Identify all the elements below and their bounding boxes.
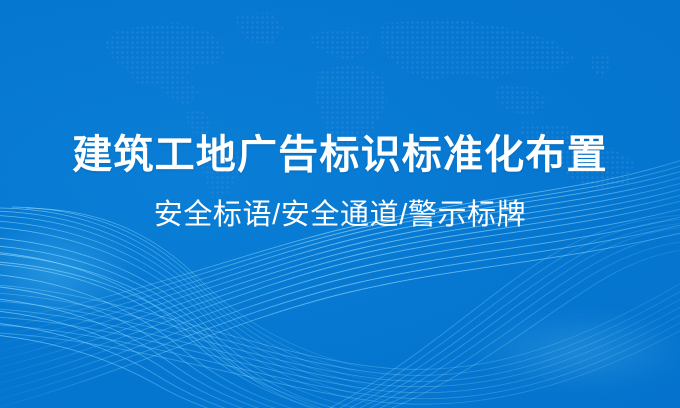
promo-banner: 建筑工地广告标识标准化布置 安全标语/安全通道/警示标牌 (0, 0, 680, 408)
page-subtitle: 安全标语/安全通道/警示标牌 (0, 198, 680, 233)
page-title: 建筑工地广告标识标准化布置 (0, 131, 680, 180)
banner-text-block: 建筑工地广告标识标准化布置 安全标语/安全通道/警示标牌 (0, 131, 680, 233)
